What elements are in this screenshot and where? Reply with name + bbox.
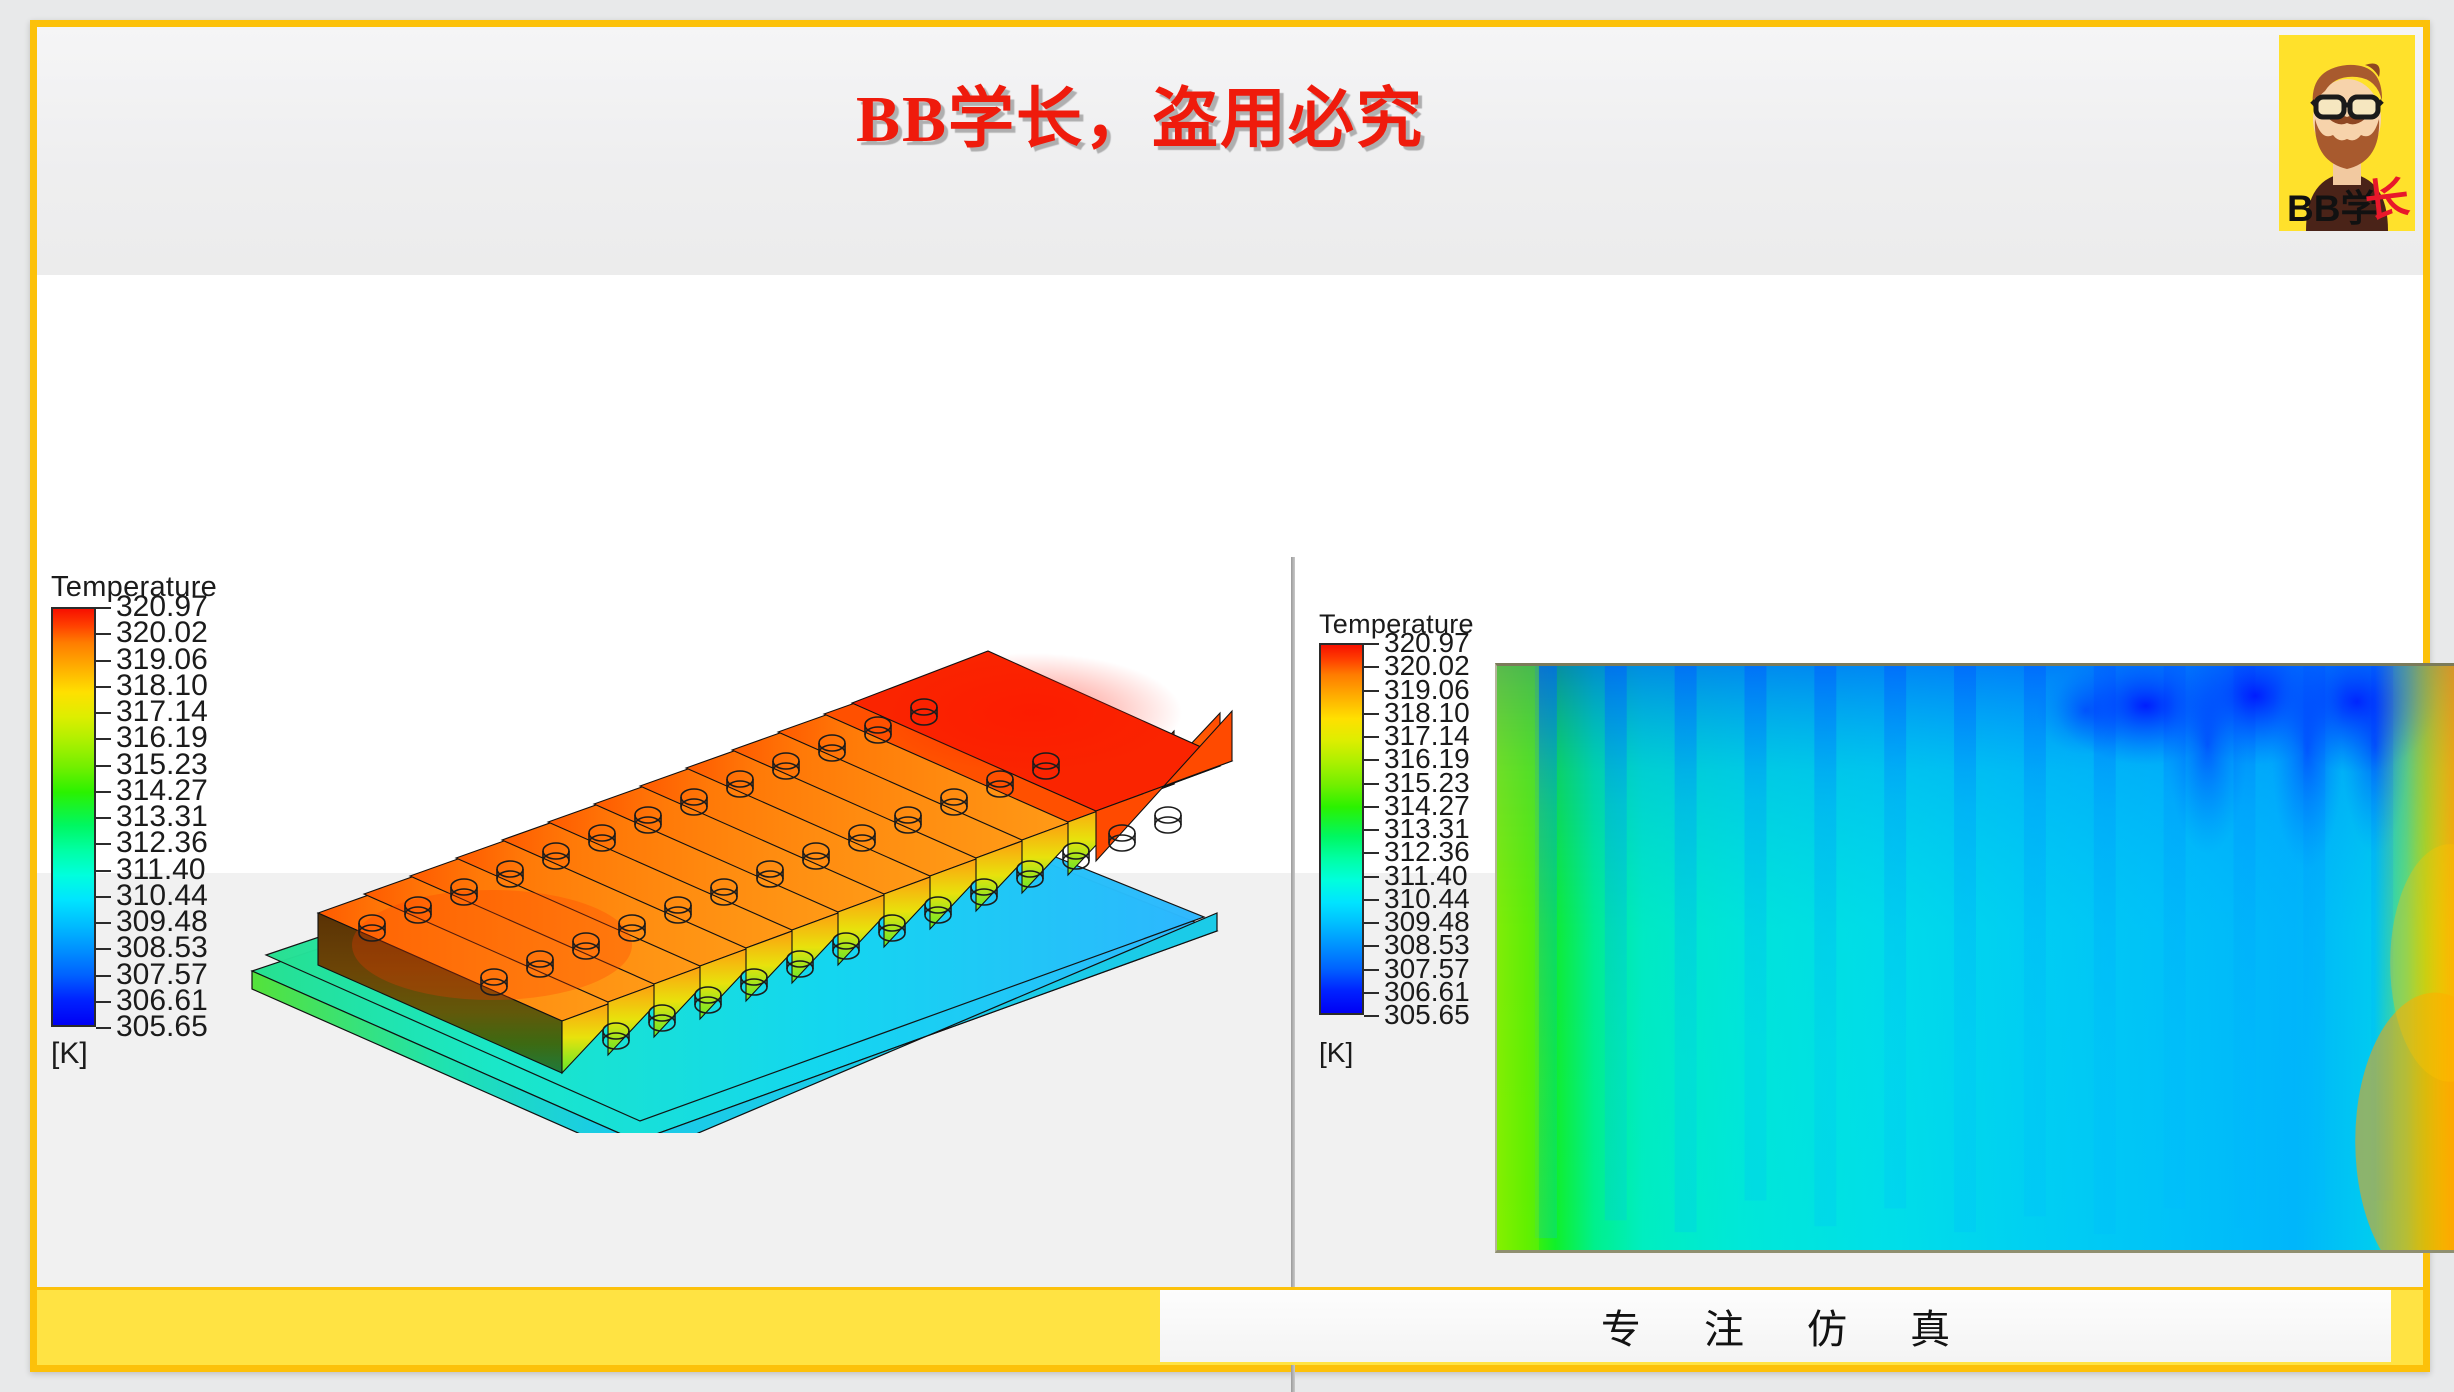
colorbar-tick-label: 305.65 xyxy=(116,1012,208,1042)
colorbar-tick xyxy=(96,896,111,898)
footer-band: 专 注 仿 真 xyxy=(37,1287,2423,1365)
pin-marker xyxy=(1155,807,1181,833)
footer-text: 专 注 仿 真 xyxy=(1160,1290,2391,1362)
colorbar-tick xyxy=(1364,829,1379,831)
page-title: BB学长，盗用必究 xyxy=(37,65,2423,161)
colorbar-tick xyxy=(96,843,111,845)
slide-header: BB学长，盗用必究 xyxy=(37,27,2423,275)
colorbar-tick xyxy=(1364,992,1379,994)
heat-sink-3d-view xyxy=(232,593,1252,1133)
fin-surface-temperature-contour xyxy=(1495,663,2454,1253)
colorbar-tick xyxy=(96,975,111,977)
colorbar-tick xyxy=(1364,736,1379,738)
colorbar-tick xyxy=(96,633,111,635)
colorbar-tick xyxy=(96,712,111,714)
colorbar-tick xyxy=(1364,643,1379,645)
colorbar-tick xyxy=(1364,806,1379,808)
colorbar-tick xyxy=(96,765,111,767)
colorbar-tick xyxy=(96,660,111,662)
colorbar-tick xyxy=(96,817,111,819)
svg-text:长: 长 xyxy=(2362,173,2412,227)
result-canvas: Temperature 320.97320.02319.06318.10317.… xyxy=(37,275,2423,873)
colorbar-tick xyxy=(96,1001,111,1003)
colorbar-tick xyxy=(1364,713,1379,715)
colorbar xyxy=(1319,643,1364,1015)
colorbar-tick-label: 305.65 xyxy=(1384,1001,1470,1029)
colorbar-tick xyxy=(1364,969,1379,971)
colorbar-tick xyxy=(1364,922,1379,924)
colorbar-tick xyxy=(96,1027,111,1029)
colorbar-tick xyxy=(1364,759,1379,761)
colorbar-tick xyxy=(1364,945,1379,947)
colorbar-tick xyxy=(96,607,111,609)
colorbar xyxy=(51,607,96,1027)
colorbar-tick xyxy=(1364,852,1379,854)
colorbar-tick xyxy=(1364,666,1379,668)
bb-xuezhang-logo: BB学 长 xyxy=(2279,35,2415,231)
colorbar-tick xyxy=(96,791,111,793)
panel-divider xyxy=(1291,557,1295,1392)
colorbar-tick xyxy=(1364,1015,1379,1017)
slide-frame: BB学长，盗用必究 xyxy=(30,20,2430,1372)
colorbar-ticks xyxy=(96,607,112,1027)
colorbar-tick xyxy=(96,922,111,924)
colorbar-tick xyxy=(1364,876,1379,878)
colorbar-tick xyxy=(96,686,111,688)
colorbar-tick xyxy=(1364,783,1379,785)
colorbar-tick xyxy=(96,948,111,950)
colorbar-tick xyxy=(1364,899,1379,901)
colorbar-tick xyxy=(96,738,111,740)
colorbar-tick xyxy=(96,870,111,872)
colorbar-ticks xyxy=(1364,643,1380,1015)
colorbar-tick xyxy=(1364,690,1379,692)
